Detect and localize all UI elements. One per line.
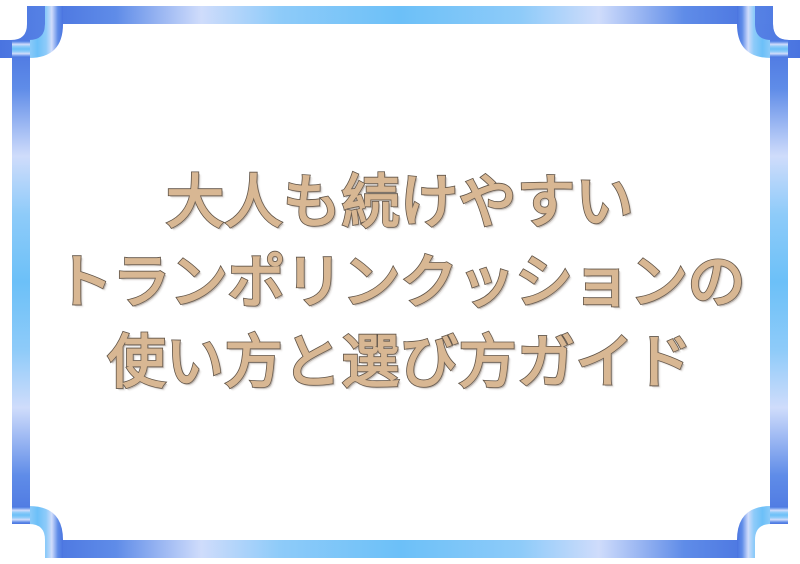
title-line-1: 大人も続けやすい [0, 162, 800, 242]
page-title: 大人も続けやすい トランポリンクッションの 使い方と選び方ガイド [0, 0, 800, 564]
title-line-3: 使い方と選び方ガイド [0, 322, 800, 402]
title-card: 大人も続けやすい トランポリンクッションの 使い方と選び方ガイド [0, 0, 800, 564]
title-line-2: トランポリンクッションの [0, 242, 800, 322]
